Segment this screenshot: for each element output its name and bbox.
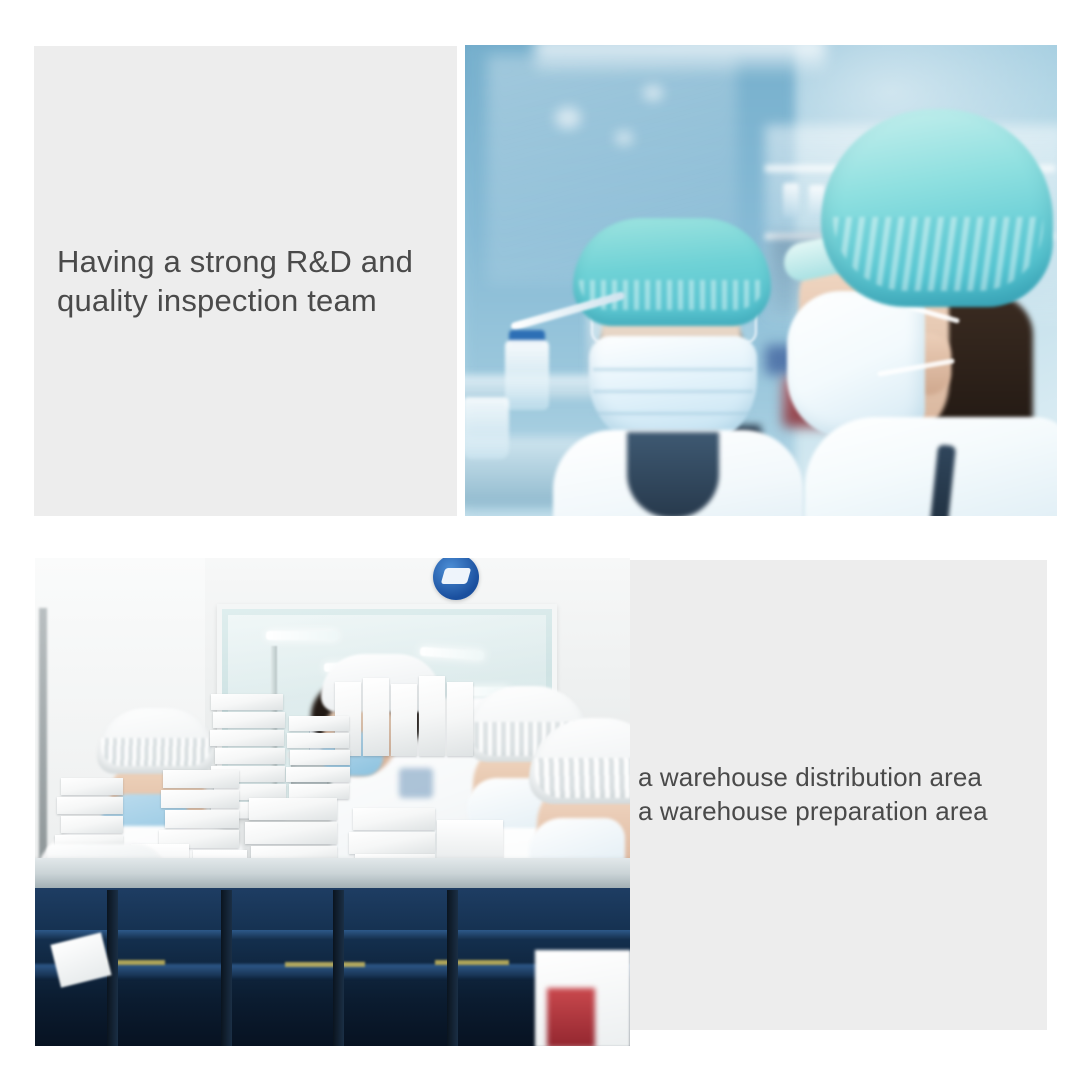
stainless-steel-tabletop xyxy=(35,858,630,890)
carton-box xyxy=(289,716,349,731)
carton-box xyxy=(287,733,349,748)
carton-box xyxy=(363,678,389,756)
section-rd-quality: Having a strong R&D and quality inspecti… xyxy=(0,0,1080,520)
caption-rd-quality: Having a strong R&D and quality inspecti… xyxy=(57,242,447,320)
caption-panel-warehouse: a warehouse distribution area a warehous… xyxy=(629,560,1047,1030)
blue-hairnet-cap xyxy=(573,218,771,326)
carton-box xyxy=(163,770,239,788)
carton-box xyxy=(215,748,285,764)
carton-box xyxy=(57,797,123,814)
carton-box xyxy=(286,767,350,782)
photo-warehouse-packaging xyxy=(35,558,630,1046)
carton-box xyxy=(61,778,123,795)
carton-box xyxy=(353,808,435,830)
caption-warehouse: a warehouse distribution area a warehous… xyxy=(638,760,1038,828)
carton-box xyxy=(61,816,123,833)
carton-box xyxy=(165,810,239,828)
carton-box xyxy=(419,676,445,756)
caption-panel-rd: Having a strong R&D and quality inspecti… xyxy=(34,46,457,516)
white-lab-coat xyxy=(805,417,1057,516)
carton-box xyxy=(349,832,435,854)
lab-light-spot xyxy=(643,85,663,101)
glass-vial xyxy=(505,340,549,410)
photo-laboratory-inspection xyxy=(465,45,1057,516)
floor-marking xyxy=(285,962,365,967)
carton-box xyxy=(290,750,350,765)
carton-box xyxy=(210,730,284,746)
lab-technician-profile xyxy=(765,65,1057,516)
section-warehouse: a warehouse distribution area a warehous… xyxy=(0,520,1080,1080)
white-hairnet-cap xyxy=(97,708,215,774)
mask-pleat xyxy=(593,368,753,371)
carton-box xyxy=(213,712,285,728)
coat-logo xyxy=(399,768,433,798)
table-leg xyxy=(221,890,232,1046)
glass-beaker xyxy=(465,397,509,459)
carton-box xyxy=(447,682,473,756)
table-leg xyxy=(447,890,458,1046)
mask-pleat xyxy=(593,412,753,415)
teal-hairnet-cap xyxy=(821,109,1053,307)
carton-box xyxy=(289,784,349,799)
mask-pleat xyxy=(593,390,753,393)
ceiling-light-tube xyxy=(266,631,338,640)
carton-box xyxy=(161,790,239,808)
white-hairnet-cap xyxy=(529,718,630,804)
carton-box xyxy=(391,684,417,756)
carton-box xyxy=(245,822,337,844)
carton-box xyxy=(249,798,337,820)
carton-box xyxy=(211,694,283,710)
red-item xyxy=(547,988,595,1046)
table-leg xyxy=(333,890,344,1046)
navy-collar xyxy=(627,432,719,516)
